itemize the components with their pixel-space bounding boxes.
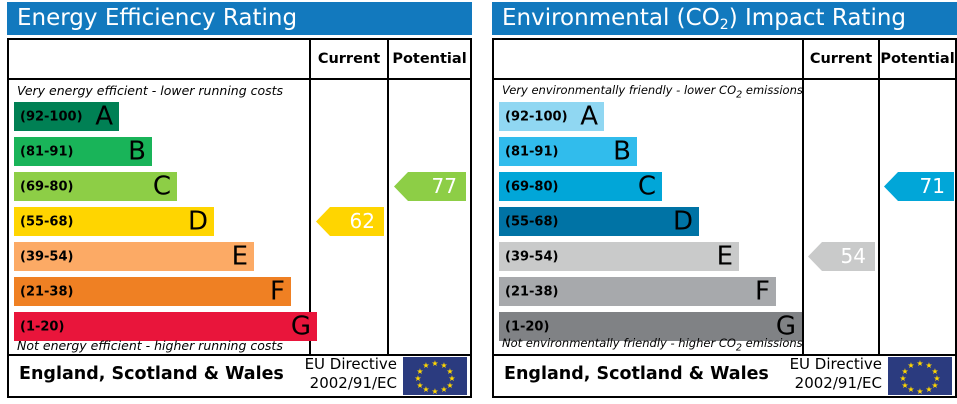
band-c-range-environmental: (69-80) xyxy=(505,179,558,194)
energy-efficiency-rating-chart: Energy Efficiency Rating Current Potenti… xyxy=(0,0,472,404)
footer-directive-line1-energy: EU Directive xyxy=(281,355,397,374)
eu-star-icon: ★ xyxy=(916,388,924,396)
footer-directive-line2-energy: 2002/91/EC xyxy=(281,374,397,393)
band-f-letter-environmental: F xyxy=(755,278,770,304)
band-e-environmental: (39-54) E xyxy=(499,242,739,271)
caption-top-energy: Very energy efficient - lower running co… xyxy=(17,83,283,98)
band-a-energy: (92-100) A xyxy=(14,102,119,131)
caption-top-environmental-prefix: Very environmentally friendly - lower CO xyxy=(502,83,736,97)
band-g-energy: (1-20) G xyxy=(14,312,317,341)
chart-title-environmental-suffix: ) Impact Rating xyxy=(729,5,906,31)
eu-star-icon: ★ xyxy=(916,360,924,368)
epc-charts-sheet: Energy Efficiency Rating Current Potenti… xyxy=(0,0,957,404)
footer-directive-energy: EU Directive 2002/91/EC xyxy=(281,352,397,396)
band-f-range-energy: (21-38) xyxy=(20,284,73,299)
footer-region-environmental: England, Scotland & Wales xyxy=(504,352,769,396)
band-a-environmental: (92-100) A xyxy=(499,102,604,131)
footer-environmental: England, Scotland & Wales EU Directive 2… xyxy=(494,352,955,396)
band-d-range-energy: (55-68) xyxy=(20,214,73,229)
chart-title-energy-text: Energy Efficiency Rating xyxy=(17,5,297,31)
environmental-impact-rating-chart: Environmental (CO2) Impact Rating Curren… xyxy=(485,0,957,404)
eu-star-icon: ★ xyxy=(901,382,909,390)
footer-directive-line2-environmental: 2002/91/EC xyxy=(766,374,882,393)
band-b-letter-energy: B xyxy=(128,138,146,164)
footer-directive-line1-environmental: EU Directive xyxy=(766,355,882,374)
band-d-letter-energy: D xyxy=(188,208,208,234)
band-e-energy: (39-54) E xyxy=(14,242,254,271)
chart-body-energy: Very energy efficient - lower running co… xyxy=(9,80,470,356)
caption-bottom-environmental: Not environmentally friendly - higher CO… xyxy=(502,336,803,353)
eu-star-icon: ★ xyxy=(899,375,907,383)
band-b-range-environmental: (81-91) xyxy=(505,144,558,159)
column-header-potential-energy: Potential xyxy=(389,40,470,78)
band-e-range-energy: (39-54) xyxy=(20,249,73,264)
band-d-environmental: (55-68) D xyxy=(499,207,699,236)
chart-title-environmental-sub: 2 xyxy=(720,17,729,33)
potential-rating-arrow-environmental: 71 xyxy=(884,172,954,201)
column-header-potential-environmental: Potential xyxy=(880,40,955,78)
band-a-range-energy: (92-100) xyxy=(20,109,83,124)
chart-frame-environmental: Current Potential Very environmentally f… xyxy=(492,38,957,398)
caption-top-environmental: Very environmentally friendly - lower CO… xyxy=(502,83,803,100)
band-c-environmental: (69-80) C xyxy=(499,172,662,201)
band-f-environmental: (21-38) F xyxy=(499,277,776,306)
potential-rating-arrow-energy: 77 xyxy=(394,172,466,201)
chart-title-environmental-prefix: Environmental (CO xyxy=(502,5,720,31)
band-c-range-energy: (69-80) xyxy=(20,179,73,194)
eu-star-icon: ★ xyxy=(431,360,439,368)
chart-body-environmental: Very environmentally friendly - lower CO… xyxy=(494,80,955,356)
column-header-current-environmental: Current xyxy=(804,40,878,78)
eu-star-icon: ★ xyxy=(414,375,422,383)
band-d-energy: (55-68) D xyxy=(14,207,214,236)
band-f-letter-energy: F xyxy=(270,278,285,304)
band-c-energy: (69-80) C xyxy=(14,172,177,201)
footer-energy: England, Scotland & Wales EU Directive 2… xyxy=(9,352,470,396)
band-b-environmental: (81-91) B xyxy=(499,137,637,166)
band-g-range-environmental: (1-20) xyxy=(505,319,549,334)
band-f-range-environmental: (21-38) xyxy=(505,284,558,299)
band-b-range-energy: (81-91) xyxy=(20,144,73,159)
band-a-range-environmental: (92-100) xyxy=(505,109,568,124)
column-header-row-environmental: Current Potential xyxy=(494,40,955,78)
eu-flag-icon-energy: ★ ★ ★ ★ ★ ★ ★ ★ ★ ★ ★ ★ xyxy=(403,357,467,395)
band-f-energy: (21-38) F xyxy=(14,277,291,306)
column-header-current-energy: Current xyxy=(311,40,387,78)
band-e-letter-energy: E xyxy=(232,243,248,269)
chart-frame-energy: Current Potential Very energy efficient … xyxy=(7,38,472,398)
eu-star-icon: ★ xyxy=(440,386,448,394)
band-b-energy: (81-91) B xyxy=(14,137,152,166)
eu-star-icon: ★ xyxy=(416,382,424,390)
caption-bottom-energy: Not energy efficient - higher running co… xyxy=(17,338,283,353)
eu-flag-icon-environmental: ★ ★ ★ ★ ★ ★ ★ ★ ★ ★ ★ ★ xyxy=(888,357,952,395)
column-header-row-energy: Current Potential xyxy=(9,40,470,78)
band-a-letter-energy: A xyxy=(95,103,113,129)
footer-region-energy: England, Scotland & Wales xyxy=(19,352,284,396)
band-e-range-environmental: (39-54) xyxy=(505,249,558,264)
chart-title-environmental: Environmental (CO2) Impact Rating xyxy=(492,2,957,35)
caption-top-environmental-suffix: emissions xyxy=(742,83,803,97)
band-b-letter-environmental: B xyxy=(613,138,631,164)
footer-directive-environmental: EU Directive 2002/91/EC xyxy=(766,352,882,396)
eu-star-icon: ★ xyxy=(431,388,439,396)
eu-star-icon: ★ xyxy=(422,362,430,370)
caption-bottom-environmental-prefix: Not environmentally friendly - higher CO xyxy=(502,336,736,350)
band-c-letter-energy: C xyxy=(153,173,171,199)
eu-star-icon: ★ xyxy=(925,386,933,394)
band-d-range-environmental: (55-68) xyxy=(505,214,558,229)
band-e-letter-environmental: E xyxy=(717,243,733,269)
band-c-letter-environmental: C xyxy=(638,173,656,199)
current-rating-arrow-environmental: 54 xyxy=(808,242,875,271)
eu-star-icon: ★ xyxy=(907,362,915,370)
current-rating-arrow-energy: 62 xyxy=(316,207,384,236)
band-a-letter-environmental: A xyxy=(580,103,598,129)
caption-bottom-environmental-suffix: emissions xyxy=(742,336,803,350)
chart-title-energy: Energy Efficiency Rating xyxy=(7,2,472,35)
band-g-letter-energy: G xyxy=(291,313,311,339)
band-g-range-energy: (1-20) xyxy=(20,319,64,334)
band-d-letter-environmental: D xyxy=(673,208,693,234)
